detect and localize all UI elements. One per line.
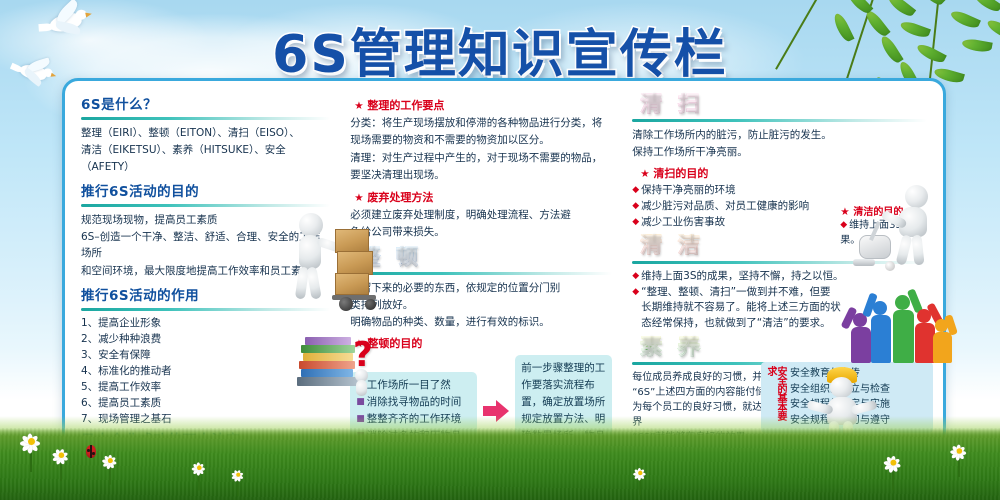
divider: [81, 117, 330, 120]
list-item: 3、安全有保障: [81, 348, 330, 364]
text-disposal-line2: 免给公司带来损失。: [350, 224, 612, 240]
list-item: 6、提高员工素质: [81, 396, 330, 412]
text-key-point-line4: 要坚决清理出现场。: [350, 167, 612, 183]
subheading-disposal-method: ★ 废弃处理方法: [354, 189, 612, 205]
star-icon: ★: [640, 168, 653, 180]
text-seiton-line1: 把留下来的必要的东西，依规定的位置分门别: [350, 280, 612, 296]
text-key-point-line3: 清理：对生产过程中产生的，对于现场不需要的物品，: [350, 150, 612, 166]
bullet-icon: ◆: [632, 185, 639, 195]
poster-title-wrap: 6S管理知识宣传栏: [0, 12, 1000, 87]
bullet-icon: ◆: [632, 217, 639, 227]
list-item: ◆减少脏污对品质、对员工健康的影响: [632, 199, 862, 215]
daisy-icon: [100, 452, 120, 481]
poster-canvas: 6S管理知识宣传栏 6S是什么？ 整理（EIRI）、整顿（EITON）、清扫（E…: [0, 0, 1000, 500]
heading-what-is-6s: 6S是什么？: [81, 93, 330, 115]
bullet-icon: ◆: [632, 271, 639, 281]
text-6s-definition-line2: 清洁（EIKETSU）、素养（HITSUKE）、安全（AFETY）: [81, 142, 330, 175]
celebrating-people-icon: [847, 291, 957, 369]
divider: [81, 204, 330, 207]
daisy-icon: [190, 460, 207, 484]
list-seiso-goal: ◆保持干净亮丽的环境 ◆减少脏污对品质、对员工健康的影响 ◆减少工业伤害事故: [632, 183, 862, 231]
vacuum-cleaner-icon: [855, 185, 959, 281]
star-icon: ★: [354, 100, 367, 112]
daisy-icon: [49, 444, 73, 479]
heading-seiketsu: 清 洁: [640, 234, 704, 257]
star-icon: ★: [840, 206, 853, 218]
text-key-point-line1: 分类：将生产现场摆放和停滞的各种物品进行分类，将: [350, 115, 612, 131]
daisy-icon: [633, 466, 648, 487]
list-item: ◆减少工业伤害事故: [632, 215, 862, 231]
worker-figure-icon: [277, 213, 387, 323]
text-6s-definition-line1: 整理（EIRI）、整顿（EITON）、清扫（EISO）、: [81, 125, 330, 141]
text-seiton-line3: 明确物品的种类、数量，进行有效的标识。: [350, 314, 612, 330]
heading-6s-purpose: 推行6S活动的目的: [81, 180, 330, 202]
heading-shitsuke: 素 养: [640, 336, 704, 359]
daisy-icon: [14, 426, 48, 472]
list-item: 2、减少种种浪费: [81, 332, 330, 348]
list-item: ◆“整理、整顿、清扫”一做到并不难，但要: [632, 285, 847, 301]
content-panel: 6S是什么？ 整理（EIRI）、整顿（EITON）、清扫（EISO）、 清洁（E…: [62, 78, 946, 448]
text-disposal-line1: 必须建立废弃处理制度，明确处理流程、方法避: [350, 207, 612, 223]
subheading-seiton-goal: ★ 整顿的目的: [354, 335, 612, 351]
text-seiso-line2: 保持工作场所干净亮丽。: [632, 144, 857, 160]
seiketsu-body: ◆维持上面3S的成果，坚持不懈，持之以恒。 ◆“整理、整顿、清扫”一做到并不难，…: [632, 269, 847, 333]
heading-seiso: 清 扫: [640, 93, 704, 116]
text-seiketsu-line4: 态经常保持，也就做到了“清洁”的要求。: [632, 316, 847, 332]
bullet-icon: ◆: [632, 287, 639, 297]
page-title: 6S管理知识宣传栏: [272, 12, 728, 87]
list-item: ◆维持上面3S的成果，坚持不懈，持之以恒。: [632, 269, 847, 285]
list-item: 4、标准化的推动者: [81, 364, 330, 380]
list-6s-effects: 1、提高企业形象 2、减少种种浪费 3、安全有保障 4、标准化的推动者 5、提高…: [81, 316, 330, 428]
text-key-point-line2: 现场需要的物资和不需要的物资加以区分。: [350, 132, 612, 148]
bullet-icon: ◆: [632, 201, 639, 211]
daisy-icon: [231, 468, 245, 487]
bullet-icon: ◆: [840, 220, 847, 230]
divider: [632, 119, 927, 122]
text-seiton-line2: 类排列放好。: [350, 297, 612, 313]
text-seiketsu-line3: 长期维持就不容易了。能将上述三方面的状: [632, 300, 847, 316]
star-icon: ★: [354, 192, 367, 204]
text-seiso-line1: 清除工作场所内的脏污，防止脏污的发生。: [632, 127, 857, 143]
ladybug-icon: [86, 445, 96, 458]
divider: [350, 272, 612, 275]
list-item: ◆保持干净亮丽的环境: [632, 183, 862, 199]
grass-strip: [0, 428, 1000, 500]
daisy-icon: [947, 440, 971, 474]
list-item: 5、提高工作效率: [81, 380, 330, 396]
subheading-seiso-goal: ★ 清扫的目的: [640, 165, 927, 181]
daisy-icon: [880, 451, 906, 487]
books-stack-icon: ?: [295, 329, 385, 399]
subheading-seiri-key-points: ★ 整理的工作要点: [354, 97, 612, 113]
